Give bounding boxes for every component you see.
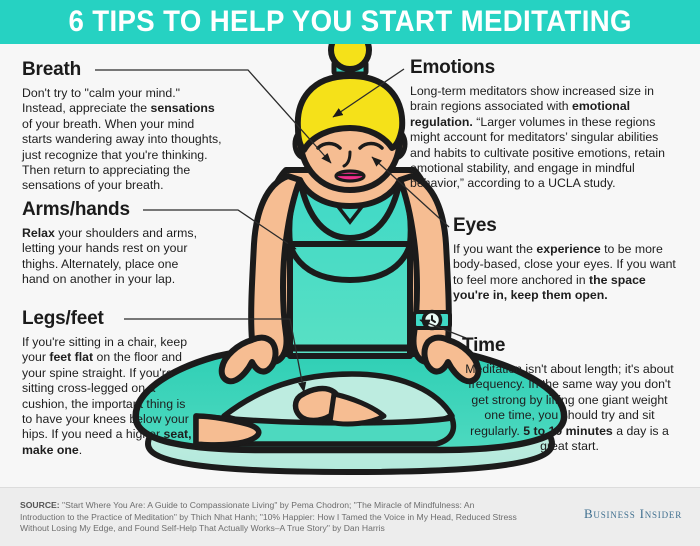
tip-breath: Breath Don't try to "calm your mind." In… xyxy=(22,60,227,194)
business-insider-logo: Business Insider xyxy=(584,506,682,522)
tip-eyes-body: If you want the experience to be more bo… xyxy=(453,242,679,304)
tip-emotions-body: Long-term meditators show increased size… xyxy=(410,84,672,192)
tip-time-heading: Time xyxy=(462,336,677,356)
tip-legs-body: If you're sitting in a chair, keep your … xyxy=(22,335,197,458)
page-title: 6 TIPS TO HELP YOU START MEDITATING xyxy=(68,5,631,39)
tip-arms-heading: Arms/hands xyxy=(22,200,207,220)
tip-emotions-heading: Emotions xyxy=(410,58,672,78)
infographic-page: 6 TIPS TO HELP YOU START MEDITATING xyxy=(0,0,700,545)
tip-eyes: Eyes If you want the experience to be mo… xyxy=(453,216,679,304)
tip-eyes-heading: Eyes xyxy=(453,216,679,236)
tip-time: Time Meditation isn't about length; it's… xyxy=(462,336,677,454)
tip-emotions: Emotions Long-term meditators show incre… xyxy=(410,58,672,192)
tip-breath-body: Don't try to "calm your mind." Instead, … xyxy=(22,86,227,194)
tip-breath-heading: Breath xyxy=(22,60,227,80)
wristwatch xyxy=(414,312,450,329)
tip-arms-body: Relax your shoulders and arms, letting y… xyxy=(22,226,207,288)
tip-arms-hands: Arms/hands Relax your shoulders and arms… xyxy=(22,200,207,288)
tip-time-body: Meditation isn't about length; it's abou… xyxy=(462,362,677,454)
tip-legs-heading: Legs/feet xyxy=(22,309,197,329)
hair-bun xyxy=(331,44,369,69)
source-citation: SOURCE: "Start Where You Are: A Guide to… xyxy=(20,500,520,535)
source-text: "Start Where You Are: A Guide to Compass… xyxy=(20,500,517,533)
infographic-canvas: Breath Don't try to "calm your mind." In… xyxy=(0,44,700,487)
header-bar: 6 TIPS TO HELP YOU START MEDITATING xyxy=(0,0,700,44)
footer-bar: SOURCE: "Start Where You Are: A Guide to… xyxy=(0,487,700,546)
source-label: SOURCE: xyxy=(20,500,60,510)
tip-legs-feet: Legs/feet If you're sitting in a chair, … xyxy=(22,309,197,458)
